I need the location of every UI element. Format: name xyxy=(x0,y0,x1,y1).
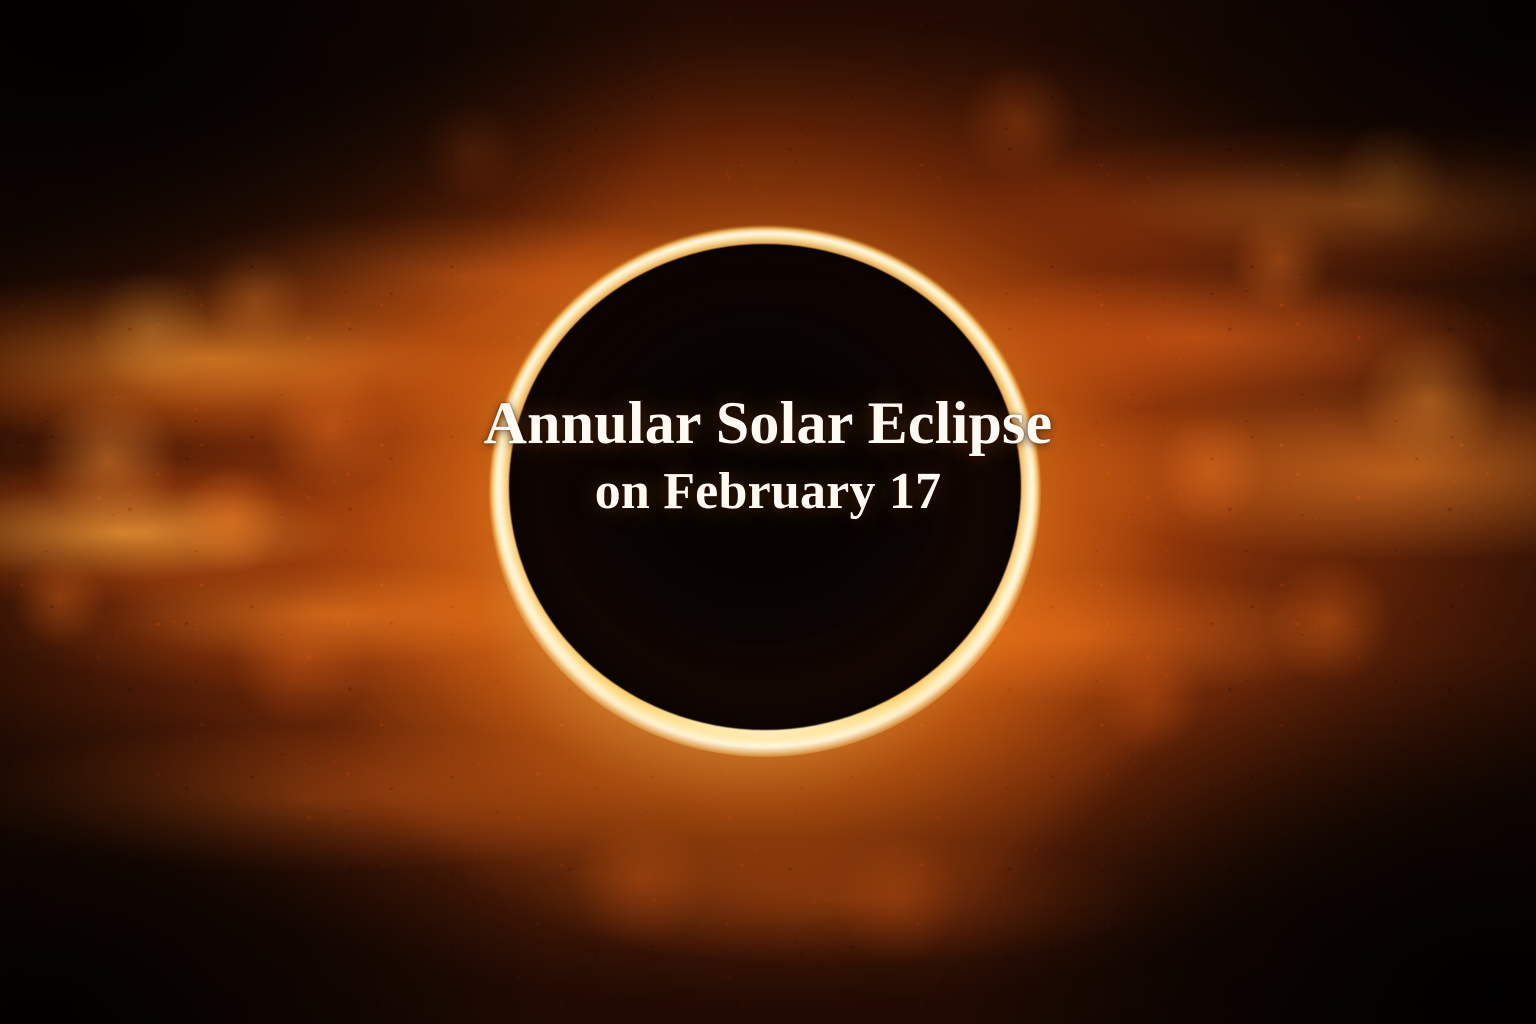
corona-glow-lower-bias xyxy=(290,240,1190,960)
title-line-secondary: on February 17 xyxy=(0,464,1536,519)
title-line-primary: Annular Solar Eclipse xyxy=(0,392,1536,454)
eclipse-hero-image: Annular Solar Eclipse on February 17 xyxy=(0,0,1536,1024)
title-block: Annular Solar Eclipse on February 17 xyxy=(0,392,1536,520)
